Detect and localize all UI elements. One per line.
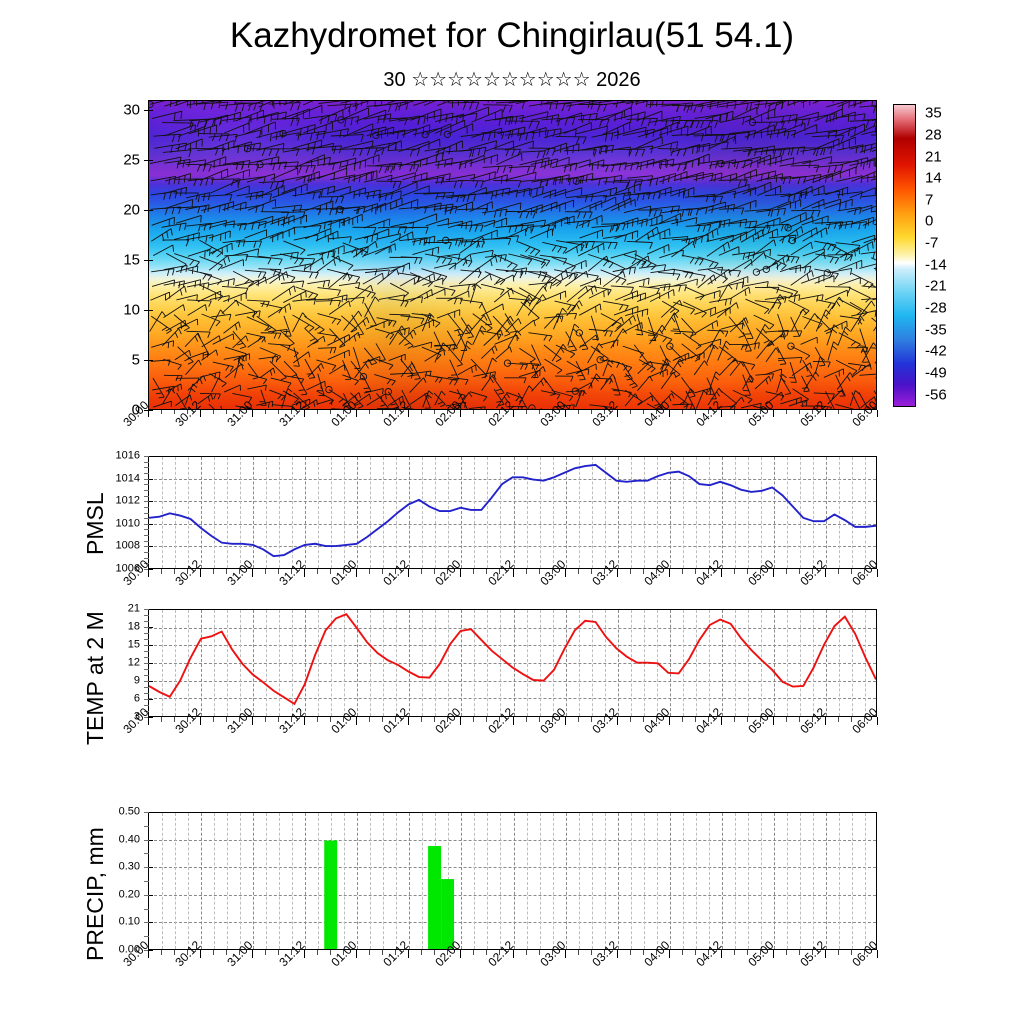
y-tick-minor <box>144 840 149 841</box>
x-tick <box>630 950 631 955</box>
precip-bar <box>324 841 337 950</box>
x-tick <box>356 410 357 417</box>
colorbar-tick--56: -56 <box>925 387 947 402</box>
x-tick <box>356 950 357 958</box>
x-tick <box>486 569 487 574</box>
y-tick-minor <box>144 909 149 910</box>
x-tick <box>486 410 487 414</box>
x-tick <box>226 569 227 574</box>
x-tick <box>643 950 644 955</box>
y-tick-mark <box>144 310 153 311</box>
y-tick-minor <box>144 484 149 485</box>
x-tick <box>382 950 383 955</box>
y-tick-label-12: 12 <box>128 658 140 669</box>
y-tick-minor <box>144 507 149 508</box>
y-tick-minor <box>144 621 149 622</box>
y-tick-mark <box>144 160 153 161</box>
x-tick <box>786 410 787 414</box>
colorbar-tick--35: -35 <box>925 322 947 337</box>
x-tick <box>695 569 696 574</box>
y-tick-minor <box>144 490 149 491</box>
x-tick <box>382 569 383 574</box>
x-tick <box>591 569 592 574</box>
x-tick <box>473 569 474 574</box>
y-tick-label-9: 9 <box>134 676 140 687</box>
y-tick-label-15: 15 <box>128 640 140 651</box>
x-tick <box>851 569 852 574</box>
y-tick-minor <box>144 462 149 463</box>
x-tick <box>591 717 592 722</box>
x-tick <box>473 410 474 414</box>
x-tick <box>200 950 201 958</box>
x-tick <box>330 410 331 414</box>
x-tick <box>174 410 175 414</box>
x-tick <box>252 569 253 577</box>
x-tick <box>356 569 357 577</box>
x-tick <box>630 410 631 414</box>
x-tick <box>434 410 435 414</box>
x-tick <box>278 410 279 414</box>
y-tick-minor <box>144 473 149 474</box>
y-tick-label-30: 30 <box>123 103 140 118</box>
y-tick-minor <box>144 826 149 827</box>
y-tick-label-1012: 1012 <box>116 496 140 507</box>
y-tick-minor <box>144 681 149 682</box>
y-tick-minor <box>144 535 149 536</box>
x-tick <box>747 569 748 574</box>
x-tick <box>317 950 318 955</box>
x-tick <box>252 950 253 958</box>
pmsl-axis-label: PMSL <box>84 492 107 555</box>
y-tick-label-1016: 1016 <box>116 451 140 462</box>
y-tick-label-18: 18 <box>128 622 140 633</box>
forecast-chart-page: Kazhydromet for Chingirlau(51 54.1) 30 ☆… <box>0 0 1024 1024</box>
y-tick-minor <box>144 518 149 519</box>
y-tick-label-0.30: 0.30 <box>119 862 140 873</box>
x-tick <box>213 717 214 722</box>
x-tick <box>317 410 318 414</box>
x-tick <box>539 717 540 722</box>
x-tick <box>734 950 735 955</box>
x-tick <box>799 410 800 414</box>
y-tick-mark <box>144 110 153 111</box>
y-tick-label-0.50: 0.50 <box>119 807 140 818</box>
x-tick <box>434 950 435 955</box>
y-tick-minor <box>144 651 149 652</box>
x-tick <box>213 410 214 414</box>
x-tick <box>213 950 214 955</box>
x-tick <box>486 717 487 722</box>
y-tick-minor <box>144 812 149 813</box>
x-tick <box>382 410 383 414</box>
y-tick-minor <box>144 558 149 559</box>
y-tick-label-1010: 1010 <box>116 518 140 529</box>
x-tick <box>460 410 461 417</box>
x-tick <box>226 410 227 414</box>
x-tick <box>630 717 631 722</box>
y-tick-minor <box>144 936 149 937</box>
x-tick <box>278 950 279 955</box>
x-tick <box>643 569 644 574</box>
y-tick-minor <box>144 546 149 547</box>
x-tick <box>695 950 696 955</box>
x-tick <box>278 569 279 574</box>
y-tick-minor <box>144 669 149 670</box>
y-tick-minor <box>144 552 149 553</box>
x-tick <box>369 717 370 722</box>
x-tick <box>747 950 748 955</box>
precip-axis-label: PRECIP, mm <box>84 827 107 961</box>
y-tick-minor <box>144 467 149 468</box>
x-tick <box>460 950 461 958</box>
y-tick-minor <box>144 705 149 706</box>
y-tick-minor <box>144 657 149 658</box>
y-tick-minor <box>144 693 149 694</box>
y-tick-label-5: 5 <box>132 353 140 368</box>
y-tick-minor <box>144 524 149 525</box>
x-tick <box>539 950 540 955</box>
x-tick <box>265 950 266 955</box>
x-tick <box>786 950 787 955</box>
x-tick <box>486 950 487 955</box>
x-tick <box>682 569 683 574</box>
y-tick-label-25: 25 <box>123 153 140 168</box>
x-tick <box>695 410 696 414</box>
y-tick-label-0.40: 0.40 <box>119 834 140 845</box>
x-tick <box>539 569 540 574</box>
temp-axis-label: TEMP at 2 M <box>84 611 107 745</box>
x-tick <box>161 950 162 955</box>
x-tick <box>330 950 331 955</box>
x-tick <box>473 717 474 722</box>
y-tick-minor <box>144 645 149 646</box>
y-tick-minor <box>144 639 149 640</box>
x-tick <box>382 717 383 722</box>
x-tick <box>369 950 370 955</box>
x-tick-label-30.00: 30.00 <box>121 399 151 429</box>
cross-section-plot <box>148 100 877 410</box>
x-tick <box>421 950 422 955</box>
temperature-colorbar <box>893 104 916 407</box>
x-tick <box>330 717 331 722</box>
x-tick <box>317 569 318 574</box>
precip-bar-series <box>149 813 876 950</box>
x-tick <box>526 950 527 955</box>
y-tick-label-1014: 1014 <box>116 473 140 484</box>
x-tick <box>734 410 735 414</box>
y-tick-minor <box>144 456 149 457</box>
precip-bar <box>428 846 441 950</box>
y-tick-minor <box>144 627 149 628</box>
x-tick <box>265 569 266 574</box>
x-tick <box>591 950 592 955</box>
pmsl-plot <box>148 456 877 569</box>
x-tick <box>369 569 370 574</box>
x-tick <box>838 950 839 955</box>
x-tick <box>851 410 852 414</box>
pmsl-line-series <box>149 457 876 569</box>
x-tick <box>304 717 305 725</box>
x-tick <box>526 410 527 414</box>
x-tick <box>252 717 253 725</box>
y-tick-label-0.20: 0.20 <box>119 889 140 900</box>
x-tick <box>408 950 409 958</box>
x-tick <box>786 569 787 574</box>
y-tick-minor <box>144 895 149 896</box>
colorbar-tick-14: 14 <box>925 171 942 186</box>
y-tick-label-0.10: 0.10 <box>119 917 140 928</box>
x-tick <box>421 717 422 722</box>
y-tick-mark <box>144 210 153 211</box>
x-tick <box>421 410 422 414</box>
y-tick-minor <box>144 675 149 676</box>
y-tick-minor <box>144 687 149 688</box>
x-tick <box>838 717 839 722</box>
x-tick <box>304 410 305 417</box>
x-tick <box>226 950 227 955</box>
x-tick <box>682 950 683 955</box>
y-tick-label-1008: 1008 <box>116 541 140 552</box>
x-tick <box>734 717 735 722</box>
x-tick <box>213 569 214 574</box>
y-tick-mark <box>144 360 153 361</box>
colorbar-tick--42: -42 <box>925 344 947 359</box>
y-tick-minor <box>144 479 149 480</box>
y-tick-minor <box>144 513 149 514</box>
y-tick-minor <box>144 501 149 502</box>
y-tick-minor <box>144 609 149 610</box>
wind-barbs-overlay <box>149 101 876 410</box>
x-tick <box>591 410 592 414</box>
x-tick <box>421 569 422 574</box>
x-tick <box>330 569 331 574</box>
x-tick <box>434 569 435 574</box>
y-tick-minor <box>144 633 149 634</box>
colorbar-gradient <box>894 105 915 406</box>
x-tick <box>643 717 644 722</box>
colorbar-tick--7: -7 <box>925 236 938 251</box>
x-tick <box>682 410 683 414</box>
x-tick <box>304 569 305 577</box>
x-tick <box>578 950 579 955</box>
x-tick <box>174 569 175 574</box>
x-tick <box>161 717 162 722</box>
x-tick <box>317 717 318 722</box>
x-tick <box>278 717 279 722</box>
x-tick <box>838 410 839 414</box>
colorbar-tick--49: -49 <box>925 365 947 380</box>
y-tick-minor <box>144 496 149 497</box>
x-tick <box>695 717 696 722</box>
x-tick <box>408 410 409 417</box>
x-tick <box>682 717 683 722</box>
y-tick-minor <box>144 663 149 664</box>
y-tick-label-20: 20 <box>123 203 140 218</box>
x-tick <box>526 717 527 722</box>
y-tick-label-21: 21 <box>128 604 140 615</box>
y-tick-minor <box>144 615 149 616</box>
x-tick <box>161 410 162 414</box>
x-tick <box>161 569 162 574</box>
pmsl-polyline <box>149 465 876 556</box>
x-tick <box>799 950 800 955</box>
y-tick-minor <box>144 541 149 542</box>
x-tick <box>200 569 201 577</box>
x-tick <box>799 717 800 722</box>
precip-plot <box>148 812 877 950</box>
x-tick <box>460 569 461 577</box>
y-tick-mark <box>144 260 153 261</box>
y-tick-minor <box>144 853 149 854</box>
y-tick-minor <box>144 699 149 700</box>
x-tick <box>838 569 839 574</box>
y-tick-minor <box>144 867 149 868</box>
x-tick <box>578 569 579 574</box>
colorbar-tick--21: -21 <box>925 279 947 294</box>
x-tick <box>786 717 787 722</box>
temp2m-plot <box>148 609 877 717</box>
x-tick <box>747 410 748 414</box>
x-tick <box>643 410 644 414</box>
x-tick <box>226 717 227 722</box>
colorbar-tick--14: -14 <box>925 257 947 272</box>
y-tick-minor <box>144 922 149 923</box>
y-tick-minor <box>144 529 149 530</box>
x-tick <box>265 410 266 414</box>
x-tick <box>174 717 175 722</box>
x-tick <box>734 569 735 574</box>
colorbar-tick-21: 21 <box>925 149 942 164</box>
x-tick <box>408 717 409 725</box>
x-tick <box>578 410 579 414</box>
y-tick-label-15: 15 <box>123 253 140 268</box>
colorbar-tick-35: 35 <box>925 106 942 121</box>
x-tick <box>473 950 474 955</box>
temp2m-line-series <box>149 610 876 717</box>
chart-subtitle: 30 ☆☆☆☆☆☆☆☆☆☆ 2026 <box>0 68 1024 92</box>
x-tick <box>799 569 800 574</box>
x-tick <box>265 717 266 722</box>
x-tick <box>356 717 357 725</box>
x-tick <box>630 569 631 574</box>
x-tick <box>304 950 305 958</box>
x-tick <box>408 569 409 577</box>
x-tick <box>578 717 579 722</box>
x-tick <box>174 950 175 955</box>
temp2m-polyline <box>149 614 876 704</box>
x-tick <box>526 569 527 574</box>
colorbar-tick-28: 28 <box>925 127 942 142</box>
y-tick-minor <box>144 881 149 882</box>
colorbar-tick-7: 7 <box>925 192 933 207</box>
page-title: Kazhydromet for Chingirlau(51 54.1) <box>0 16 1024 56</box>
y-tick-label-10: 10 <box>123 303 140 318</box>
x-tick <box>851 717 852 722</box>
x-tick <box>434 717 435 722</box>
y-tick-label-6: 6 <box>134 694 140 705</box>
x-tick <box>369 410 370 414</box>
x-tick <box>747 717 748 722</box>
x-tick <box>539 410 540 414</box>
x-tick <box>460 717 461 725</box>
colorbar-tick-0: 0 <box>925 214 933 229</box>
colorbar-tick--28: -28 <box>925 301 947 316</box>
x-tick-label-30.00: 30.00 <box>121 706 151 736</box>
x-tick <box>200 717 201 725</box>
x-tick <box>851 950 852 955</box>
